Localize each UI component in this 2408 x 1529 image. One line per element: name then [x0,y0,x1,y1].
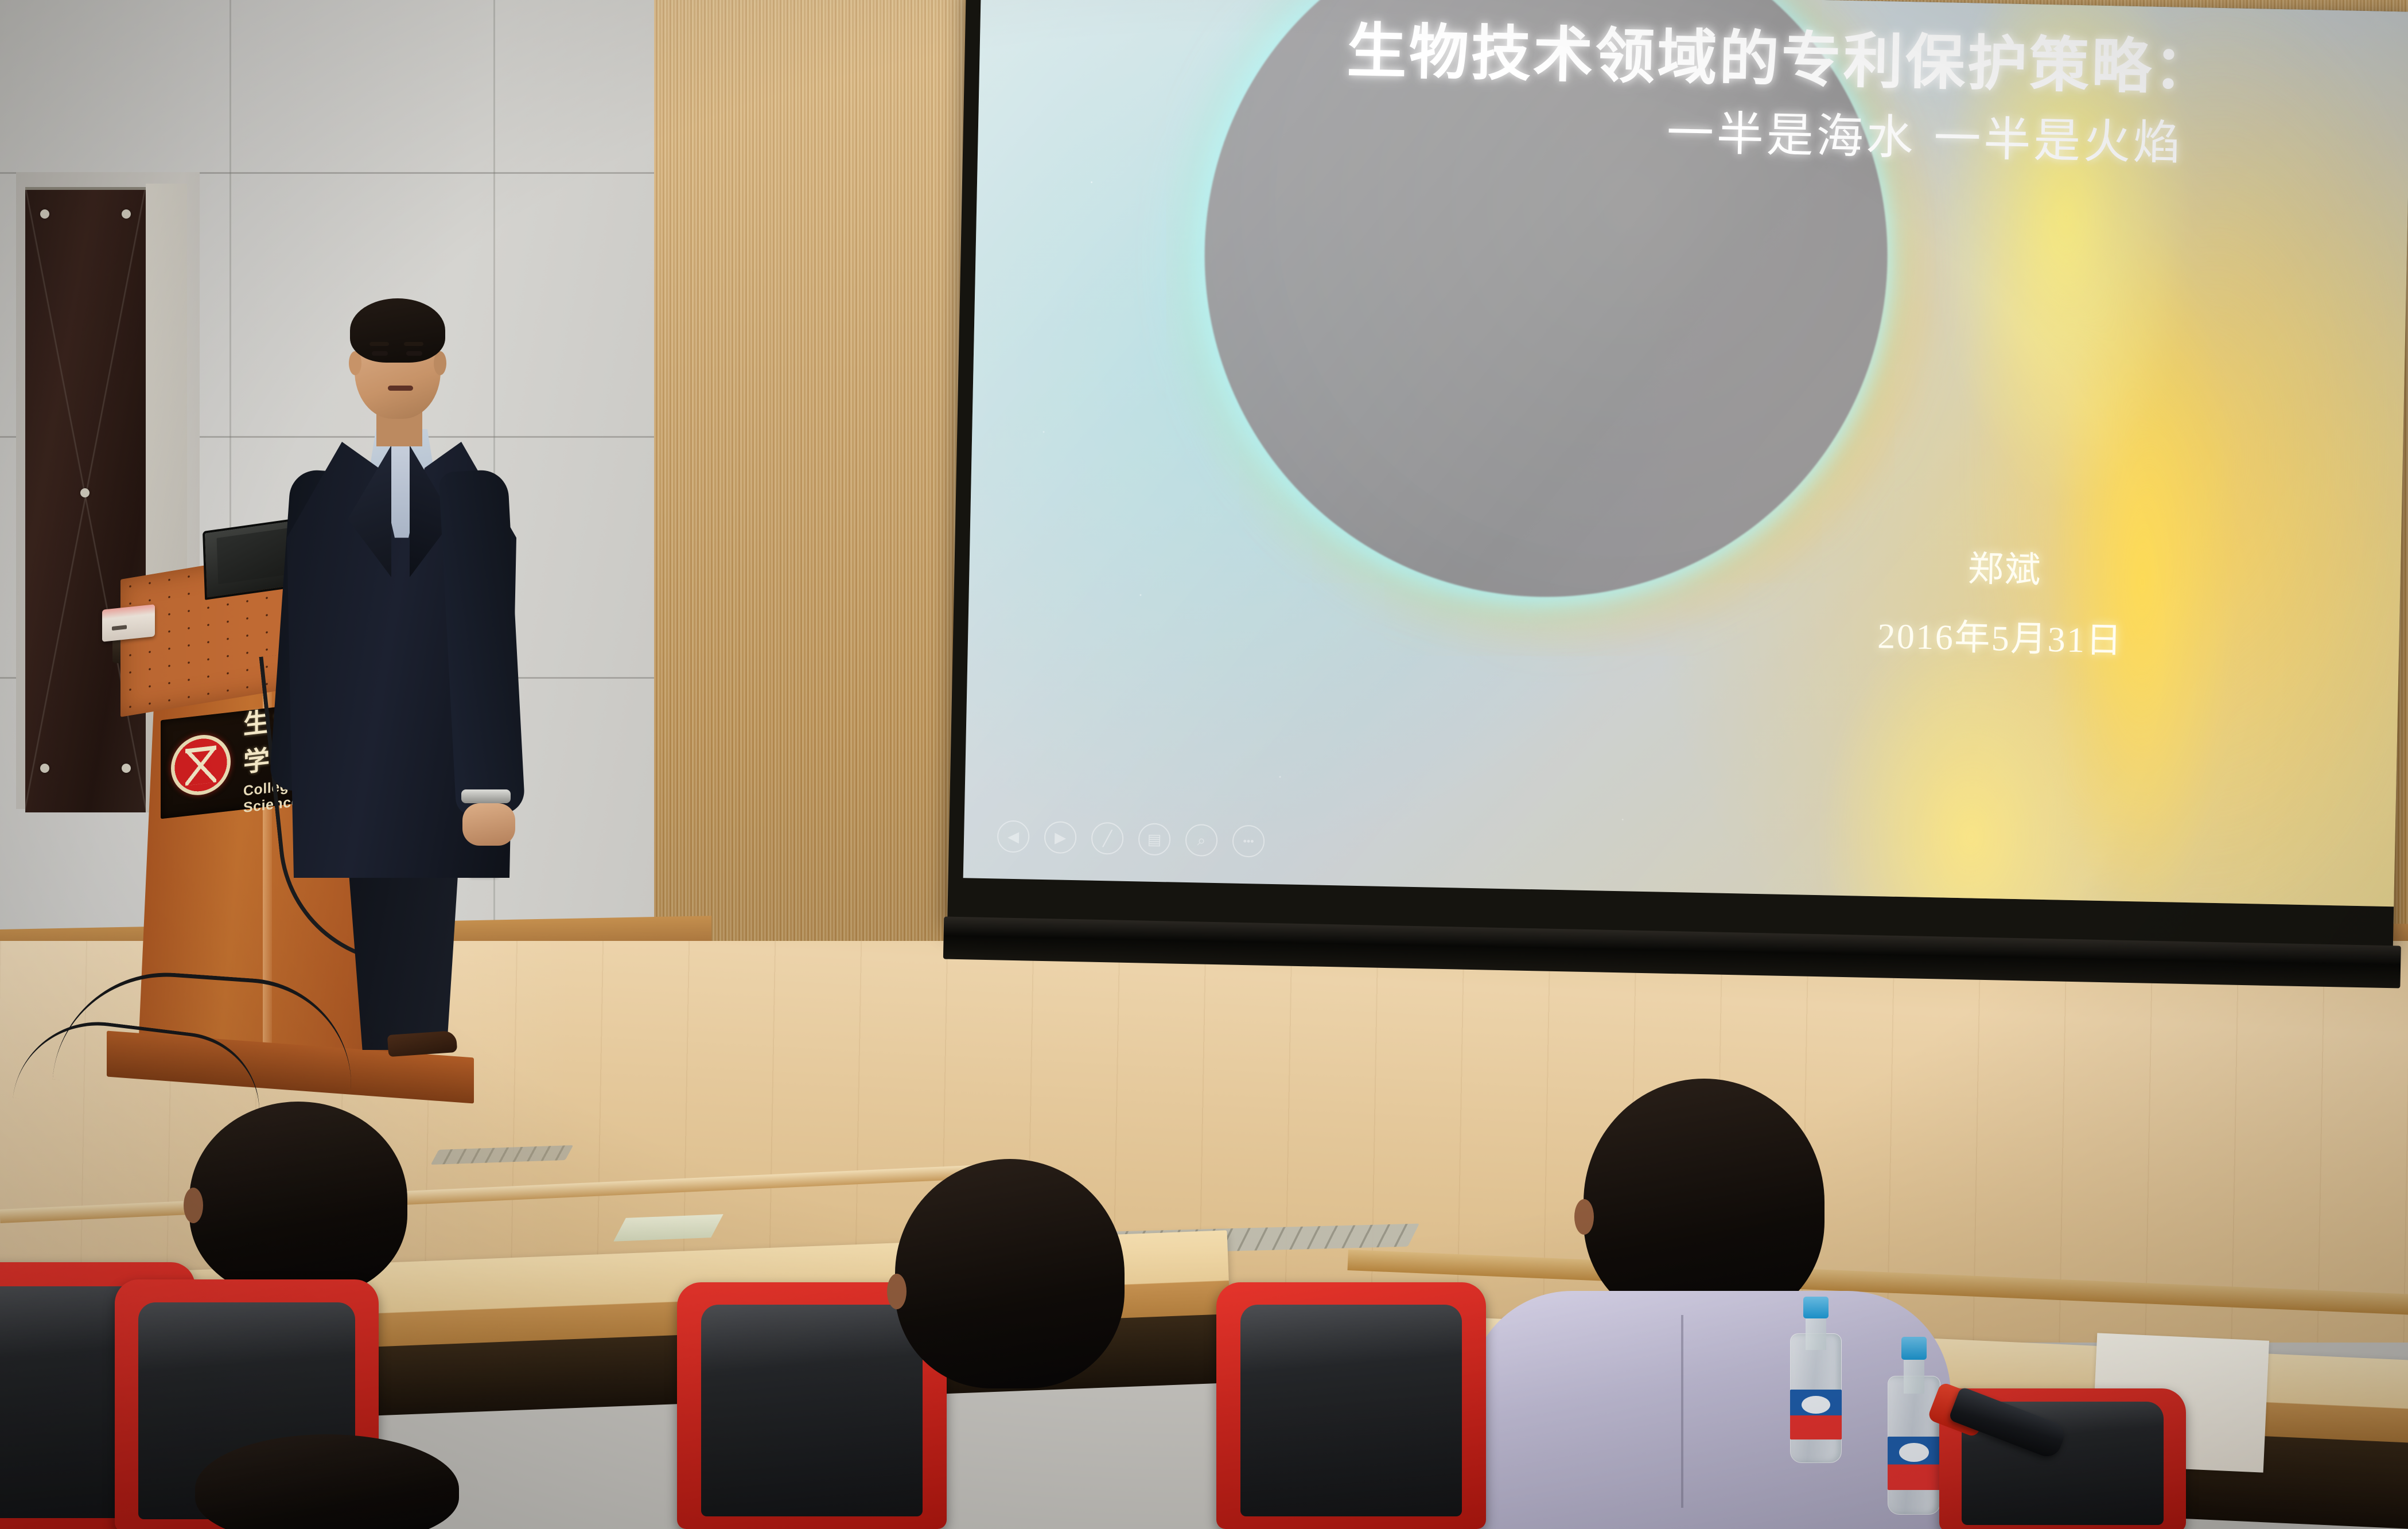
ellipsis-glyph: ••• [1243,836,1254,846]
previous-slide-icon[interactable]: ◀ [997,820,1030,853]
next-slide-icon[interactable]: ▶ [1044,821,1077,854]
box-slot [112,625,127,631]
presenter-wristwatch [461,789,511,803]
university-seal-icon [171,732,231,798]
powerpoint-presenter-toolbar[interactable]: ◀ ▶ ╱ ▤ ⌕ ••• [997,820,1265,857]
lecture-hall-photo: 生物技术领域的专利保护策略： 一半是海水 一半是火焰 郑斌 2016年5月31日… [0,0,2408,1529]
pen-tool-icon[interactable]: ╱ [1091,822,1124,855]
presenter-eyebrow-right [404,342,423,346]
presenter-eyebrow-left [369,342,389,346]
bottle-brand-mark [1802,1396,1830,1414]
audience-head [189,1102,407,1297]
presenter-right-hand [462,803,515,846]
zoom-in-icon[interactable]: ⌕ [1185,824,1218,857]
projection-screen-assembly: 生物技术领域的专利保护策略： 一半是海水 一半是火焰 郑斌 2016年5月31日… [947,0,2408,952]
audience-ear [1574,1199,1594,1235]
audience-shirt [1469,1291,1951,1529]
slide-presenter-name: 郑斌 [1967,539,2043,593]
audience-chair[interactable] [1216,1282,1486,1529]
audience-ear [887,1274,907,1309]
water-bottle[interactable] [1888,1337,1940,1515]
audience-hair [895,1159,1125,1388]
bottle-label [1888,1437,1940,1490]
small-pink-box[interactable] [102,604,155,642]
entry-door[interactable] [25,187,146,812]
audience-hair [189,1102,407,1297]
projected-slide[interactable]: 生物技术领域的专利保护策略： 一半是海水 一半是火焰 郑斌 2016年5月31日… [963,0,2408,906]
audience-hair [195,1434,459,1529]
prev-glyph: ◀ [1007,829,1020,844]
bottle-neck [1806,1313,1826,1350]
presenter-person [275,298,516,1050]
audience-head [195,1434,459,1529]
presenter-eye-left [372,351,388,356]
pen-glyph: ╱ [1103,831,1112,846]
projection-screen-frame: 生物技术领域的专利保护策略： 一半是海水 一半是火焰 郑斌 2016年5月31日… [947,0,2408,952]
door-brace-pattern [25,190,146,812]
bottle-label [1790,1390,1842,1439]
presenter-ear-right [434,351,446,375]
presenter-mouth [388,386,413,391]
wood-slat-panel-left [654,0,975,975]
grid-glyph: ▤ [1147,832,1162,847]
slide-subtitle: 一半是海水 一半是火焰 [1666,95,2184,173]
bottle-brand-mark [1899,1443,1929,1462]
presenter-hair [350,298,445,363]
magnifier-glyph: ⌕ [1197,832,1206,847]
audience-hair [1584,1079,1825,1325]
chair-pad [1240,1305,1461,1517]
desk-paper-far [613,1214,723,1241]
slide-title: 生物技术领域的专利保护策略： [1346,2,2216,106]
audience-head [1584,1079,1825,1325]
all-slides-icon[interactable]: ▤ [1138,823,1171,855]
bottle-neck [1904,1355,1925,1394]
bottle-cap [1803,1297,1828,1318]
presenter-eye-right [406,351,422,356]
presenter-trousers [343,861,464,1050]
audience-head [895,1159,1125,1388]
chair-pad [701,1305,922,1517]
next-glyph: ▶ [1055,830,1067,845]
water-bottle[interactable] [1790,1297,1842,1463]
more-options-icon[interactable]: ••• [1232,825,1265,858]
audience-ear [184,1188,203,1223]
bottle-cap [1901,1337,1927,1360]
slide-date: 2016年5月31日 [1877,606,2124,663]
